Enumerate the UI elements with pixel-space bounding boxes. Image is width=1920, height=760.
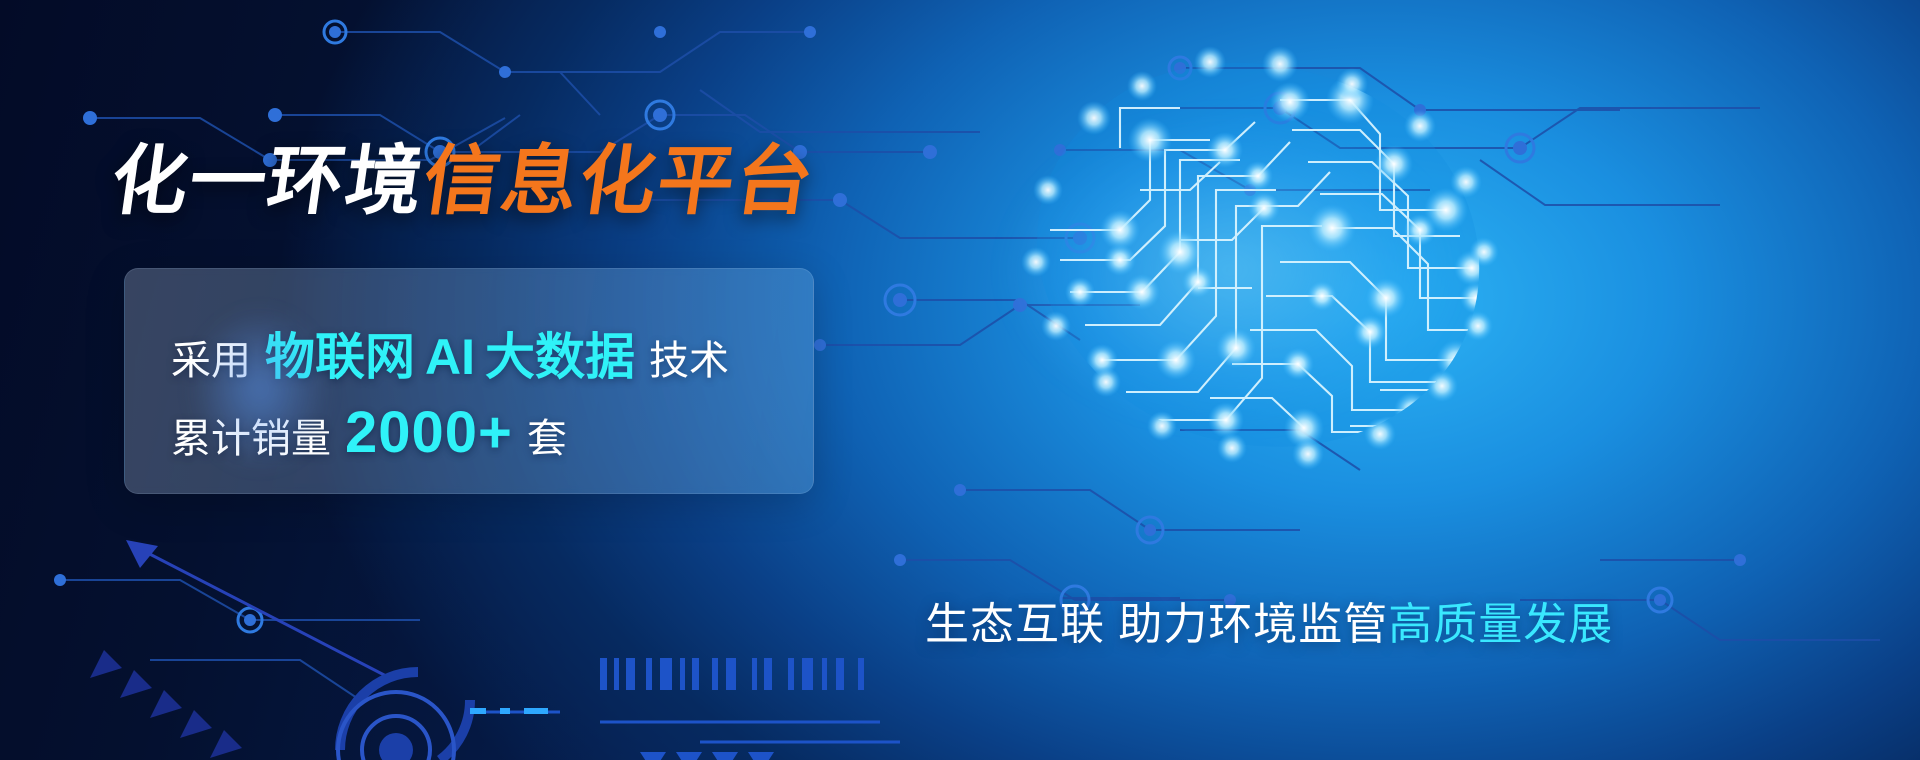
- brain-glow: [940, 70, 1520, 470]
- headline-accent: 信息化平台: [418, 136, 821, 225]
- hud-lines: [470, 712, 900, 742]
- tech-prefix: 采用: [171, 328, 251, 386]
- hud-arrow-row: [640, 752, 774, 760]
- card-line-sales: 累计销量2000+套: [171, 399, 567, 466]
- tagline-accent: 高质量发展: [1388, 600, 1613, 649]
- tech-suffix: 技术: [649, 328, 729, 386]
- barcode-marks: [600, 658, 864, 690]
- hud-small-ticks: [470, 708, 548, 714]
- tech-highlight-bigdata: 大数据: [485, 317, 635, 389]
- arrow-chevrons: [90, 650, 242, 758]
- sales-number: 2000+: [345, 399, 513, 466]
- circuit-brain-graphic: [880, 30, 1580, 500]
- headline-primary: 化一环境: [106, 136, 431, 225]
- banner-tagline: 生态互联 助力环境监管高质量发展: [925, 588, 1613, 652]
- radar-rings: [338, 692, 454, 760]
- banner-headline: 化一环境信息化平台: [107, 143, 820, 219]
- info-card: 采用物联网AI大数据技术 累计销量2000+套: [124, 268, 814, 494]
- tech-highlight-iot: 物联网: [265, 317, 415, 389]
- brain-circuit-svg: [880, 30, 1580, 500]
- sales-suffix: 套: [527, 406, 567, 464]
- sales-prefix: 累计销量: [171, 406, 331, 464]
- arrow-line: [126, 540, 390, 678]
- radar-center: [379, 733, 413, 760]
- radar-dial: [340, 672, 470, 760]
- tech-highlight-ai: AI: [425, 328, 475, 386]
- card-line-technology: 采用物联网AI大数据技术: [171, 317, 729, 389]
- hud-decoration: [0, 460, 900, 760]
- tagline-plain: 生态互联 助力环境监管: [925, 600, 1388, 649]
- hero-banner: 化一环境信息化平台 采用物联网AI大数据技术 累计销量2000+套 生态互联 助…: [0, 0, 1920, 760]
